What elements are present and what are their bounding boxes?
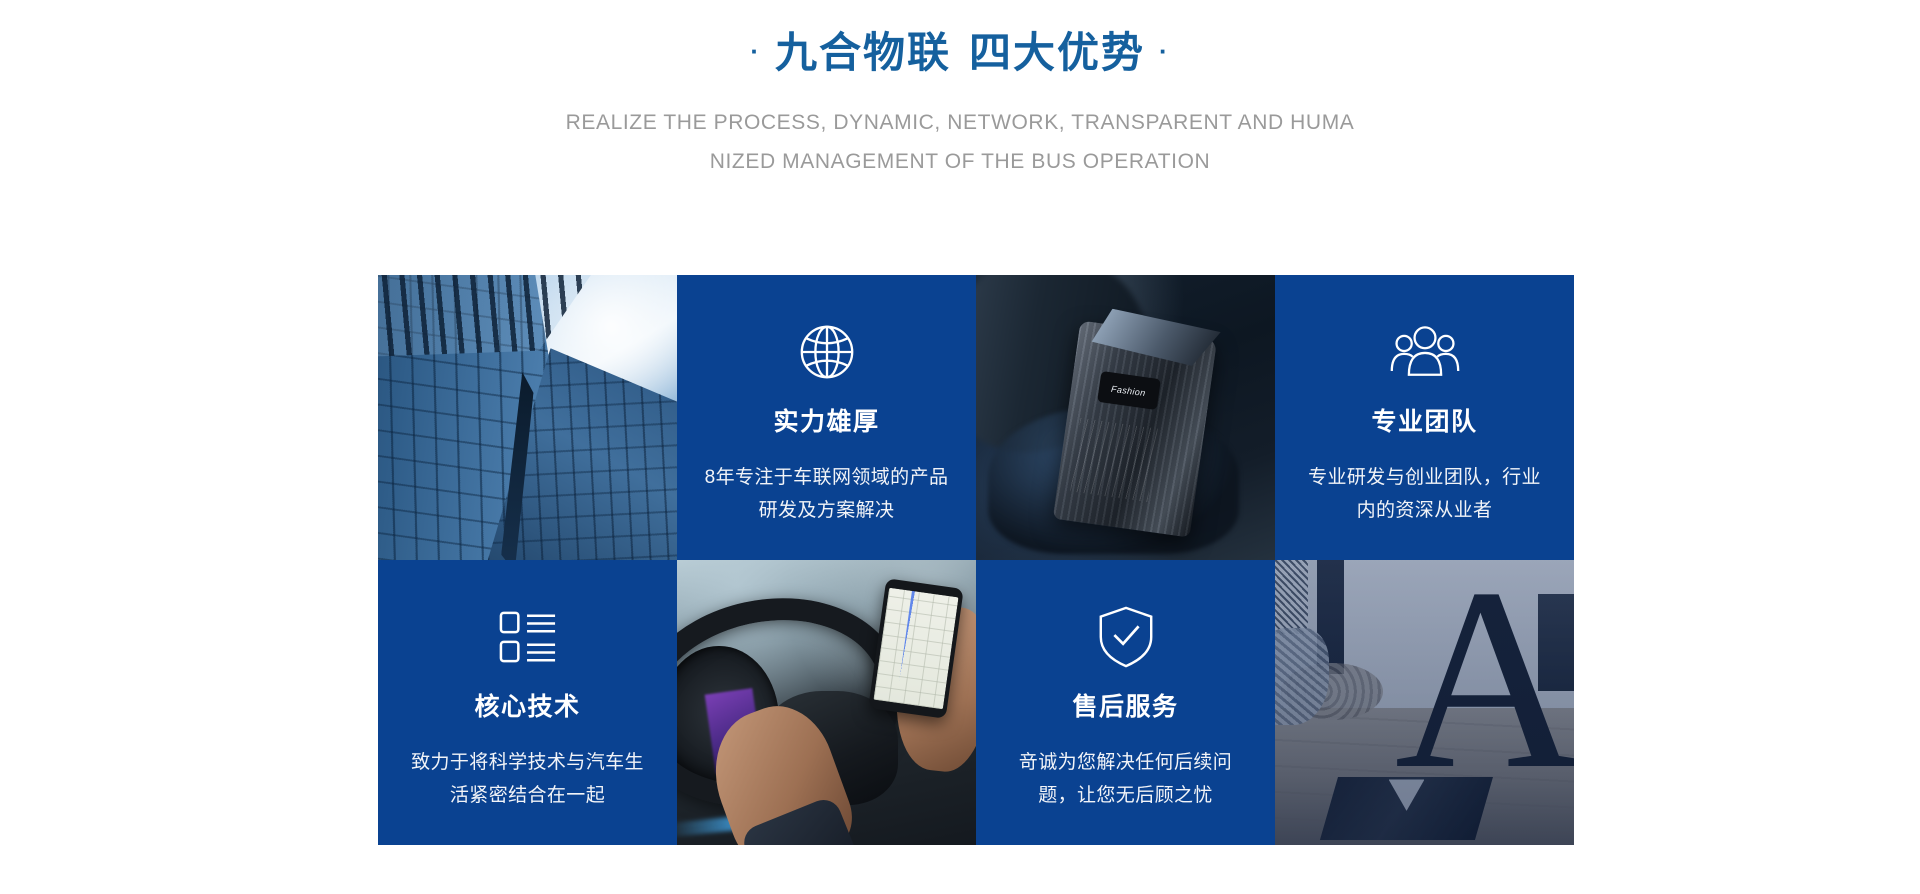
- card-description: 8年专注于车联网领域的产品研发及方案解决: [702, 461, 952, 527]
- card-title: 售后服务: [1072, 690, 1178, 724]
- page-subtitle: REALIZE THE PROCESS, DYNAMIC, NETWORK, T…: [0, 103, 1920, 181]
- card-strength[interactable]: 实力雄厚 8年专注于车联网领域的产品研发及方案解决: [677, 275, 976, 560]
- car-device-vents: [1070, 418, 1157, 502]
- card-description: 竒诚为您解决任何后续问题，让您无后顾之忧: [1001, 746, 1251, 812]
- map-screen: [874, 587, 959, 709]
- card-technology[interactable]: 核心技术 致力于将科学技术与汽车生活紧密结合在一起: [378, 560, 677, 845]
- promo-page: ·九合物联四大优势· REALIZE THE PROCESS, DYNAMIC,…: [0, 0, 1920, 894]
- card-description: 致力于将科学技术与汽车生活紧密结合在一起: [403, 746, 653, 812]
- blue-tint-overlay: [1275, 560, 1574, 845]
- card-team[interactable]: 专业团队 专业研发与创业团队，行业内的资深从业者: [1275, 275, 1574, 560]
- shield-check-icon: [1096, 594, 1156, 680]
- people-group-icon: [1388, 309, 1462, 395]
- heading-block: ·九合物联四大优势· REALIZE THE PROCESS, DYNAMIC,…: [0, 22, 1920, 181]
- photo-glass-building: [378, 275, 677, 560]
- photo-driving-navigation: [677, 560, 976, 845]
- page-subtitle-line-1: REALIZE THE PROCESS, DYNAMIC, NETWORK, T…: [0, 103, 1920, 142]
- bullet-right-icon: ·: [1145, 36, 1184, 66]
- card-title: 专业团队: [1371, 405, 1477, 439]
- bullet-left-icon: ·: [736, 36, 775, 66]
- page-subtitle-line-2: NIZED MANAGEMENT OF THE BUS OPERATION: [0, 142, 1920, 181]
- feature-grid: 实力雄厚 8年专注于车联网领域的产品研发及方案解决 Fashion: [378, 275, 1574, 845]
- page-title-part-1: 九合物联: [775, 29, 951, 76]
- card-title: 实力雄厚: [773, 405, 879, 439]
- page-title: ·九合物联四大优势·: [0, 22, 1920, 82]
- photo-car-device: Fashion: [976, 275, 1275, 560]
- globe-icon: [796, 309, 858, 395]
- list-blocks-icon: [497, 594, 559, 680]
- page-title-part-2: 四大优势: [969, 29, 1145, 76]
- photo-interior-letter-a: A: [1275, 560, 1574, 845]
- device-brand-text: Fashion: [1111, 383, 1147, 397]
- card-after-sales[interactable]: 售后服务 竒诚为您解决任何后续问题，让您无后顾之忧: [976, 560, 1275, 845]
- card-description: 专业研发与创业团队，行业内的资深从业者: [1300, 461, 1550, 527]
- card-title: 核心技术: [474, 690, 580, 724]
